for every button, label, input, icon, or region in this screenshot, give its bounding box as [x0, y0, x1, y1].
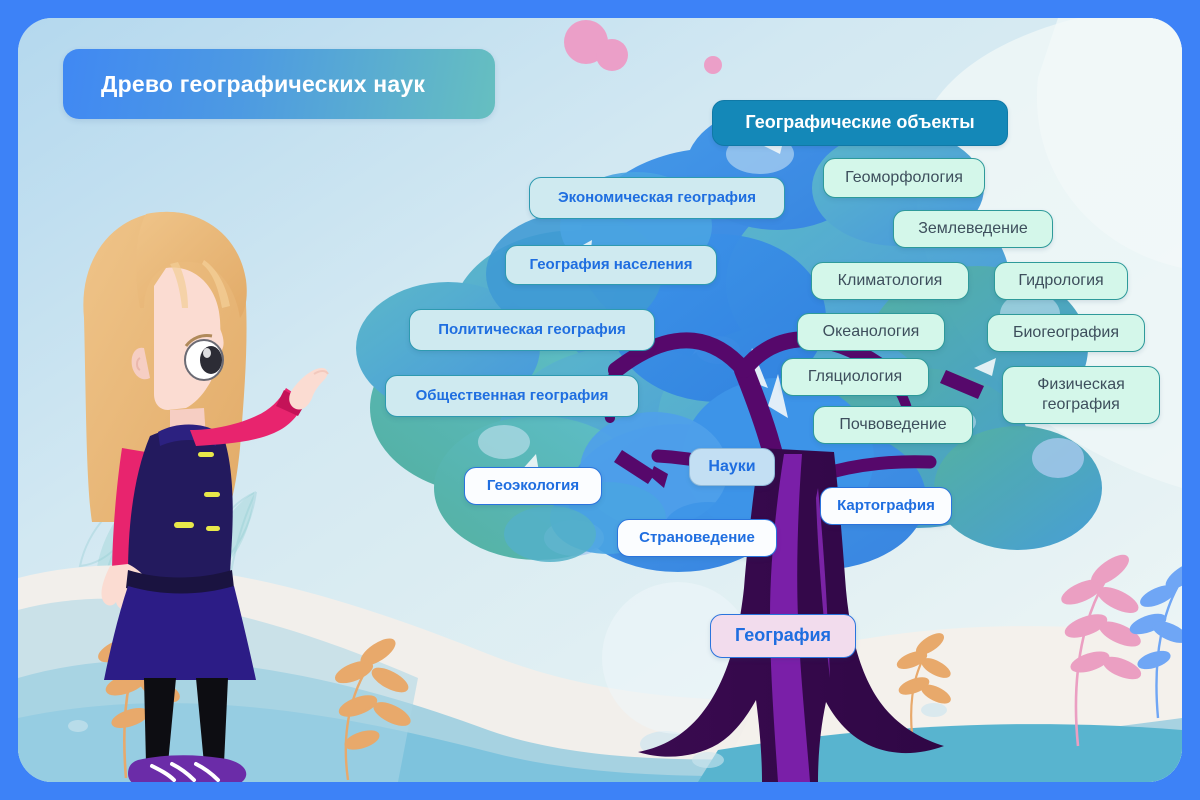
node-sciences[interactable]: Науки	[689, 448, 775, 486]
node-label: Экономическая география	[558, 189, 756, 207]
node-label: Физическая география	[1003, 375, 1159, 414]
node-economic-geography[interactable]: Экономическая география	[529, 177, 785, 219]
node-label: География населения	[529, 256, 692, 274]
node-geoecology[interactable]: Геоэкология	[464, 467, 602, 505]
node-population-geography[interactable]: География населения	[505, 245, 717, 285]
node-cartography[interactable]: Картография	[820, 487, 952, 525]
decor-circle-3	[704, 56, 722, 74]
node-label: Биогеография	[1013, 324, 1119, 343]
node-glaciology[interactable]: Гляциология	[781, 358, 929, 396]
node-label: Гляциология	[808, 368, 902, 387]
node-geography-root[interactable]: География	[710, 614, 856, 658]
node-climatology[interactable]: Климатология	[811, 262, 969, 300]
page-title-text: Древо географических наук	[101, 71, 425, 98]
poster-root: Древо географических наук Географические…	[0, 0, 1200, 800]
node-label: Почвоведение	[839, 416, 946, 435]
node-label: Политическая география	[438, 321, 625, 339]
poster-canvas: Древо географических наук Географические…	[18, 18, 1182, 782]
node-label: Картография	[837, 497, 935, 515]
node-label: Общественная география	[416, 387, 609, 405]
page-title: Древо географических наук	[63, 49, 495, 119]
node-label: Геоморфология	[845, 169, 963, 188]
node-earth-science[interactable]: Землеведение	[893, 210, 1053, 248]
node-oceanology[interactable]: Океанология	[797, 313, 945, 351]
node-label: Океанология	[823, 323, 920, 342]
decor-circle-2	[596, 39, 628, 71]
node-geomorphology[interactable]: Геоморфология	[823, 158, 985, 198]
node-political-geography[interactable]: Политическая география	[409, 309, 655, 351]
node-label: География	[735, 625, 831, 646]
node-geo-objects[interactable]: Географические объекты	[712, 100, 1008, 146]
node-label: Гидрология	[1018, 272, 1103, 291]
node-hydrology[interactable]: Гидрология	[994, 262, 1128, 300]
node-physical-geography[interactable]: Физическая география	[1002, 366, 1160, 424]
node-label: Страноведение	[639, 529, 755, 547]
node-biogeography[interactable]: Биогеография	[987, 314, 1145, 352]
node-soil-science[interactable]: Почвоведение	[813, 406, 973, 444]
node-social-geography[interactable]: Общественная география	[385, 375, 639, 417]
node-label: Геоэкология	[487, 477, 579, 495]
node-country-studies[interactable]: Страноведение	[617, 519, 777, 557]
node-label: Науки	[708, 458, 755, 477]
node-label: Климатология	[838, 272, 943, 291]
node-label: Географические объекты	[745, 112, 974, 133]
node-label: Землеведение	[918, 220, 1028, 239]
